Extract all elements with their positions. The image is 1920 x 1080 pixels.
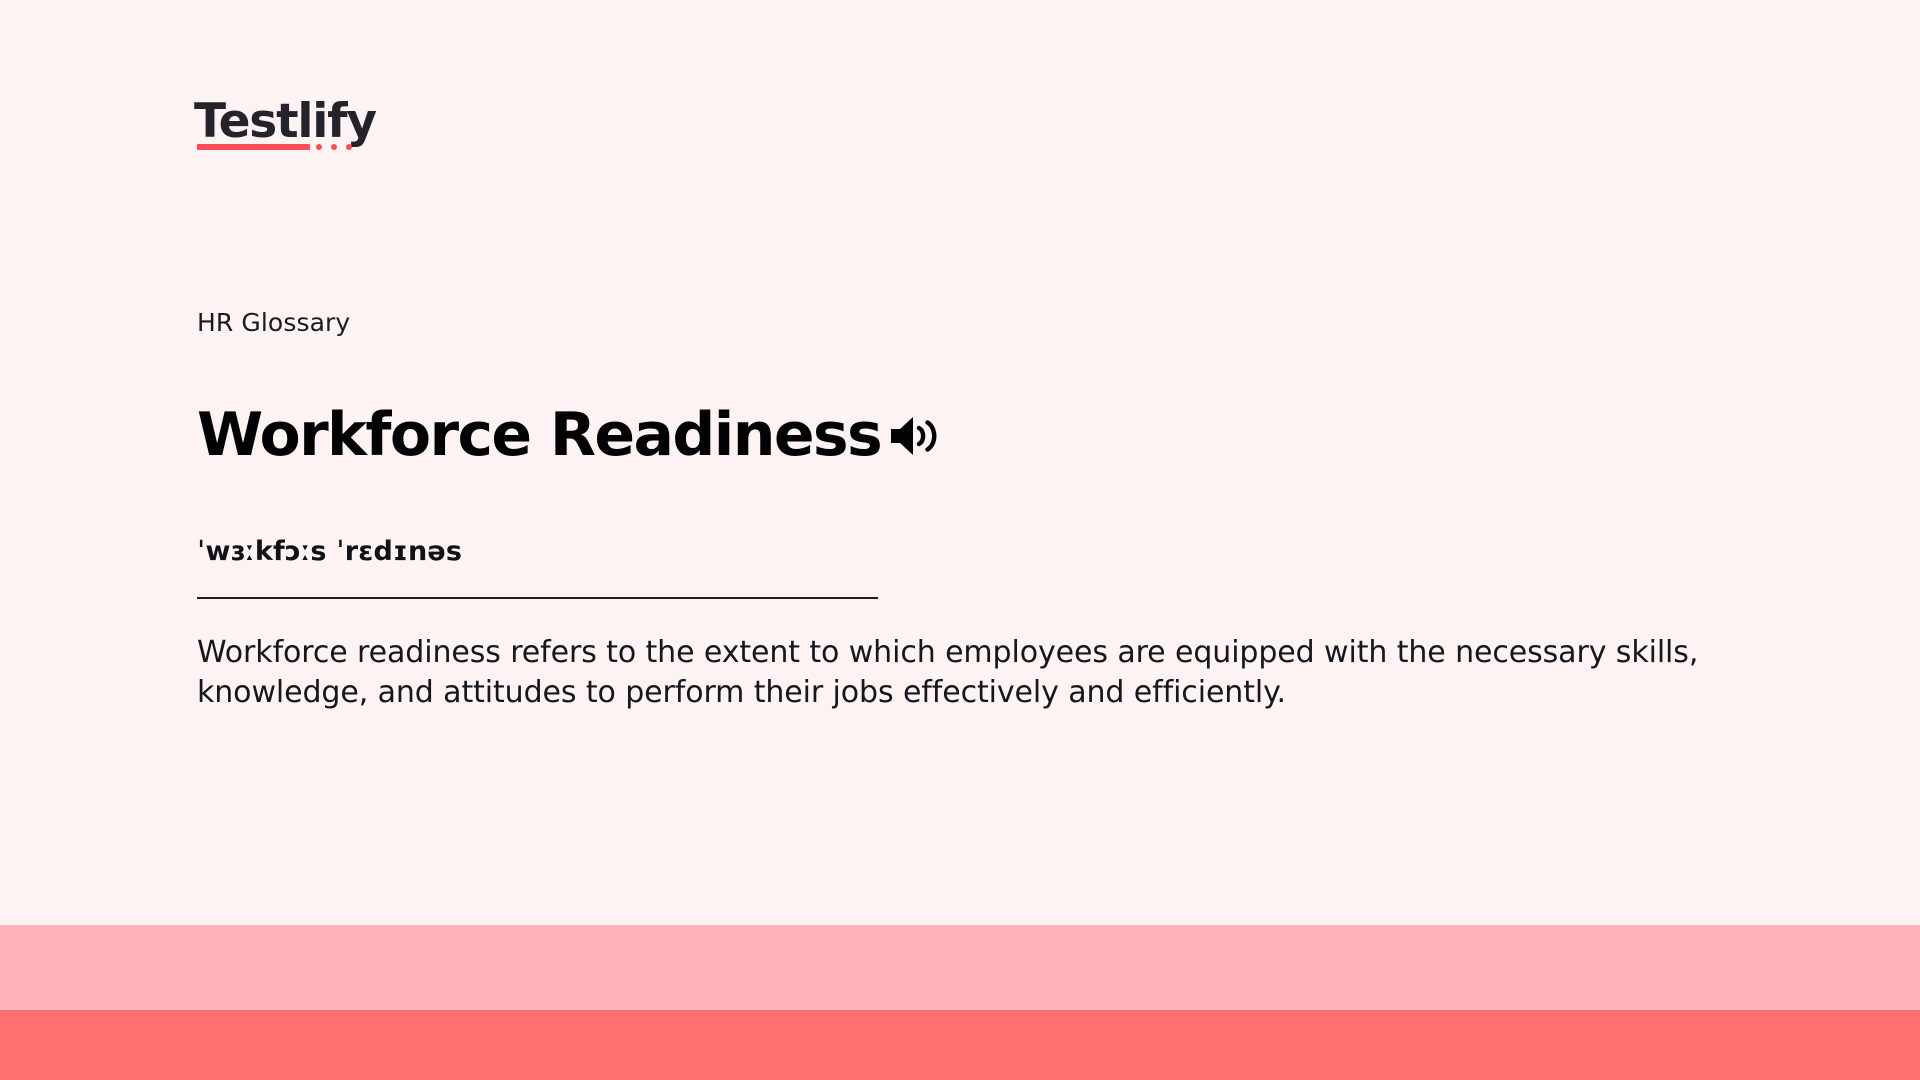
speaker-volume-icon[interactable] <box>887 413 939 459</box>
logo-dot-3 <box>346 144 352 150</box>
logo-wordmark: Testlify <box>194 98 376 145</box>
glossary-content: HR Glossary Workforce Readiness ˈwɜːkfɔː… <box>197 308 1797 742</box>
logo-dot-2 <box>331 144 337 150</box>
page-title: Workforce Readiness <box>197 402 881 469</box>
definition-text: Workforce readiness refers to the extent… <box>197 633 1742 712</box>
logo-underline <box>197 144 310 150</box>
logo-dot-1 <box>316 144 322 150</box>
section-divider <box>197 597 878 599</box>
footer-band-light <box>0 925 1920 1010</box>
breadcrumb-hr-glossary: HR Glossary <box>197 308 1797 338</box>
title-row: Workforce Readiness <box>197 362 1797 510</box>
testlify-logo[interactable]: Testlify <box>194 98 394 160</box>
logo-dots <box>316 144 352 150</box>
footer-band-coral <box>0 1010 1920 1080</box>
ipa-pronunciation: ˈwɜːkfɔːs ˈrɛdɪnəs <box>197 536 1797 568</box>
glossary-page: Testlify HR Glossary Workforce Readiness… <box>0 0 1920 1080</box>
